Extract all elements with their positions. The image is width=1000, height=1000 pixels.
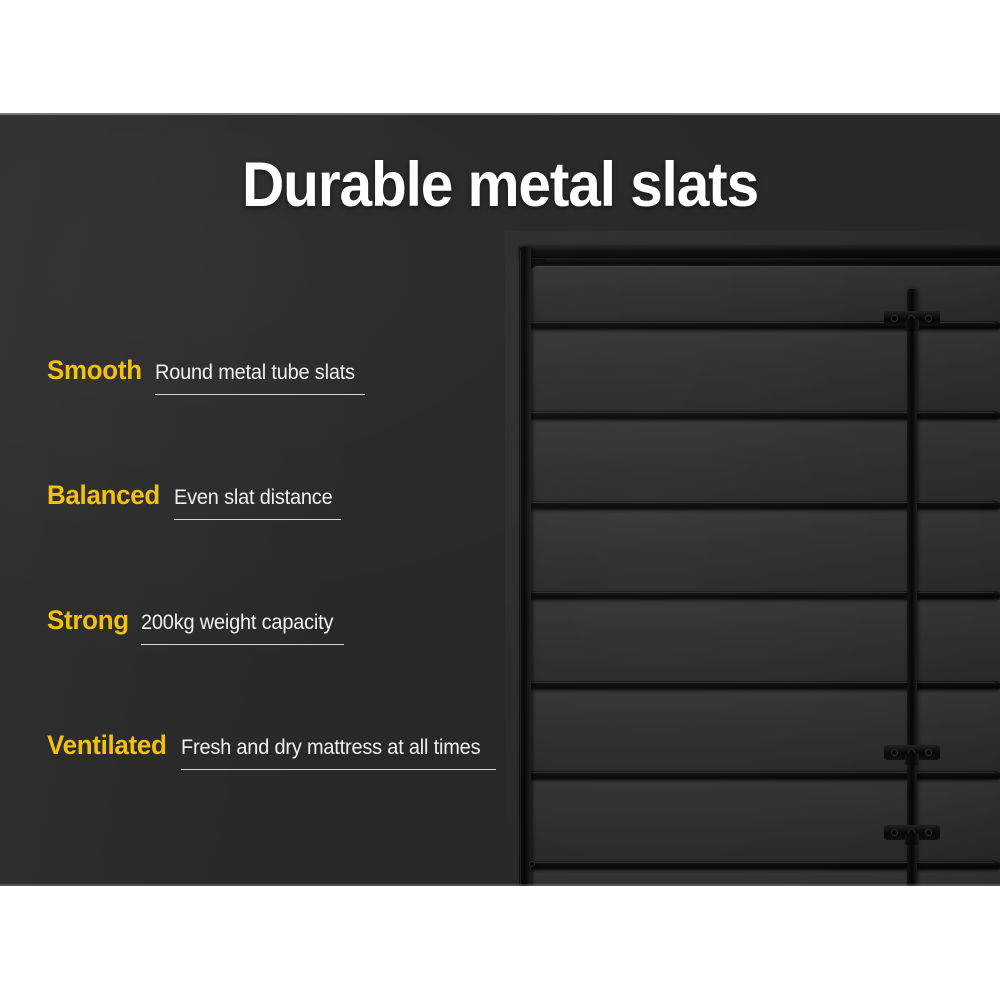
slat-bay: [527, 510, 1000, 591]
bracket-boss: [891, 315, 898, 322]
dark-panel: Durable metal slats Smooth Round metal t…: [0, 113, 1000, 886]
product-feature-banner: Durable metal slats Smooth Round metal t…: [0, 0, 1000, 1000]
metal-slat: [521, 501, 1000, 510]
corner-gusset: [531, 259, 547, 269]
metal-slat: [521, 681, 1000, 690]
feature-description-underline: Even slat distance: [174, 486, 341, 520]
feature-description-underline: Fresh and dry mattress at all times: [181, 736, 496, 770]
panel-top-divider: [0, 113, 1000, 115]
feature-term: Ventilated: [47, 730, 167, 761]
bracket-stub: [905, 833, 919, 845]
bracket-boss: [925, 749, 932, 756]
feature-term: Strong: [47, 605, 129, 636]
slat-connector-bracket: [884, 311, 940, 326]
metal-slat: [521, 771, 1000, 780]
frame-top-rail: [519, 245, 1000, 258]
slat-connector-bracket: [884, 745, 940, 760]
metal-slat: [521, 591, 1000, 600]
bracket-boss: [925, 829, 932, 836]
feature-item-strong: Strong 200kg weight capacity: [47, 605, 567, 730]
metal-slat: [521, 411, 1000, 420]
bracket-boss: [891, 749, 898, 756]
feature-list: Smooth Round metal tube slats Balanced E…: [47, 355, 567, 855]
page-title: Durable metal slats: [35, 149, 965, 221]
slat-connector-bracket: [884, 825, 940, 840]
feature-term: Balanced: [47, 480, 160, 511]
bracket-stub: [905, 753, 919, 765]
metal-slat: [521, 861, 1000, 870]
frame-top-inner-rail: [527, 258, 1000, 266]
feature-description-underline: 200kg weight capacity: [141, 611, 343, 645]
side-rail-peg: [529, 861, 535, 867]
feature-description: Fresh and dry mattress at all times: [181, 736, 480, 760]
feature-term: Smooth: [47, 355, 142, 386]
bracket-boss: [891, 829, 898, 836]
feature-description: Even slat distance: [174, 486, 333, 510]
feature-description-underline: Round metal tube slats: [155, 361, 365, 395]
slat-bay: [527, 420, 1000, 501]
slat-bay: [527, 600, 1000, 681]
feature-item-ventilated: Ventilated Fresh and dry mattress at all…: [47, 730, 567, 855]
panel-bottom-divider: [0, 884, 1000, 886]
slat-bay: [527, 780, 1000, 861]
feature-item-balanced: Balanced Even slat distance: [47, 480, 567, 605]
bracket-stub: [905, 319, 919, 331]
centre-support-rail: [907, 289, 917, 886]
feature-description: Round metal tube slats: [155, 361, 355, 385]
bed-frame-image: [505, 231, 1000, 886]
bracket-boss: [925, 315, 932, 322]
slat-bay: [527, 330, 1000, 411]
feature-description: 200kg weight capacity: [141, 611, 333, 635]
feature-item-smooth: Smooth Round metal tube slats: [47, 355, 567, 480]
